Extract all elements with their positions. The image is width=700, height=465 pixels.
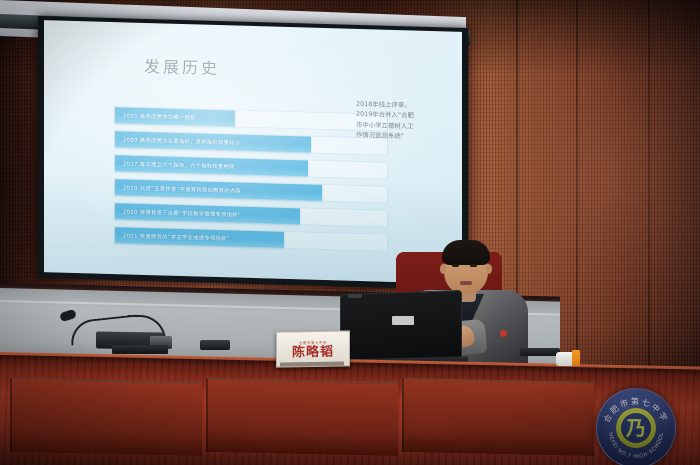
timeline-bar-label: 2009 高考成绩为主要指标，其他指标权重较小	[115, 136, 240, 147]
timeline-bar-label: 2020 疫情背景下设置“学校教学管理专项指标”	[115, 208, 241, 219]
laptop-logo-badge	[392, 316, 414, 325]
timeline-bar-fill: 2019 北京“五育并举”中增育和劳动教育的内容	[115, 179, 322, 201]
presenter-hair	[442, 240, 490, 265]
desk-equipment	[520, 348, 560, 356]
presenter-ear-right	[486, 264, 492, 274]
timeline-bar-fill: 2005 高考成绩作为唯一指标	[115, 107, 235, 126]
presenter-eye-left	[452, 264, 459, 267]
timeline-bar-fill: 2017 首次建立六个指标，六个指标权重相同	[115, 155, 308, 176]
timeline-bar-fill: 2020 疫情背景下设置“学校教学管理专项指标”	[115, 203, 300, 224]
school-emblem: 合肥市第七中学 HEFEI NO.7 HIGH SCHOOL 乃	[596, 388, 676, 465]
lapel-badge	[500, 330, 507, 337]
timeline-bar-label: 2005 高考成绩作为唯一指标	[115, 112, 196, 121]
timeline-bar-label: 2021 恢复原有的“学生学业成绩专项指标”	[115, 232, 230, 242]
conference-room-photo: 发展历史 2005 高考成绩作为唯一指标2009 高考成绩为主要指标，其他指标权…	[0, 0, 700, 465]
laptop-hinge-nub	[348, 294, 362, 298]
presenter-mouth	[460, 281, 472, 285]
second-microphone-base	[200, 340, 230, 350]
desk-orange-object	[572, 350, 580, 366]
desk-console-unit	[112, 345, 168, 354]
slide-title: 发展历史	[144, 53, 220, 79]
timeline-bar-track: 2021 恢复原有的“学生学业成绩专项指标”	[114, 226, 388, 252]
timeline-bar-fill: 2009 高考成绩为主要指标，其他指标权重较小	[115, 131, 311, 152]
presentation-slide: 发展历史 2005 高考成绩作为唯一指标2009 高考成绩为主要指标，其他指标权…	[44, 20, 462, 284]
desk-front-panel	[10, 378, 202, 456]
desk-front-panel	[402, 378, 594, 456]
name-placard-name: 陈略韬	[292, 345, 334, 359]
projection-screen: 发展历史 2005 高考成绩作为唯一指标2009 高考成绩为主要指标，其他指标权…	[44, 20, 462, 284]
timeline-bar-label: 2019 北京“五育并举”中增育和劳动教育的内容	[115, 184, 241, 195]
timeline-bar-label: 2017 首次建立六个指标，六个指标权重相同	[115, 160, 235, 170]
timeline-bar-fill: 2021 恢复原有的“学生学业成绩专项指标”	[115, 227, 284, 248]
presenter-eye-right	[470, 264, 477, 267]
presenter-ear-left	[440, 264, 446, 274]
emblem-shading	[597, 389, 675, 465]
desk-front-panel	[206, 378, 398, 456]
slide-side-note: 2018年线上评审，2019年合并入“合肥市中小学立德树人工作情况监测系统”	[356, 99, 416, 142]
